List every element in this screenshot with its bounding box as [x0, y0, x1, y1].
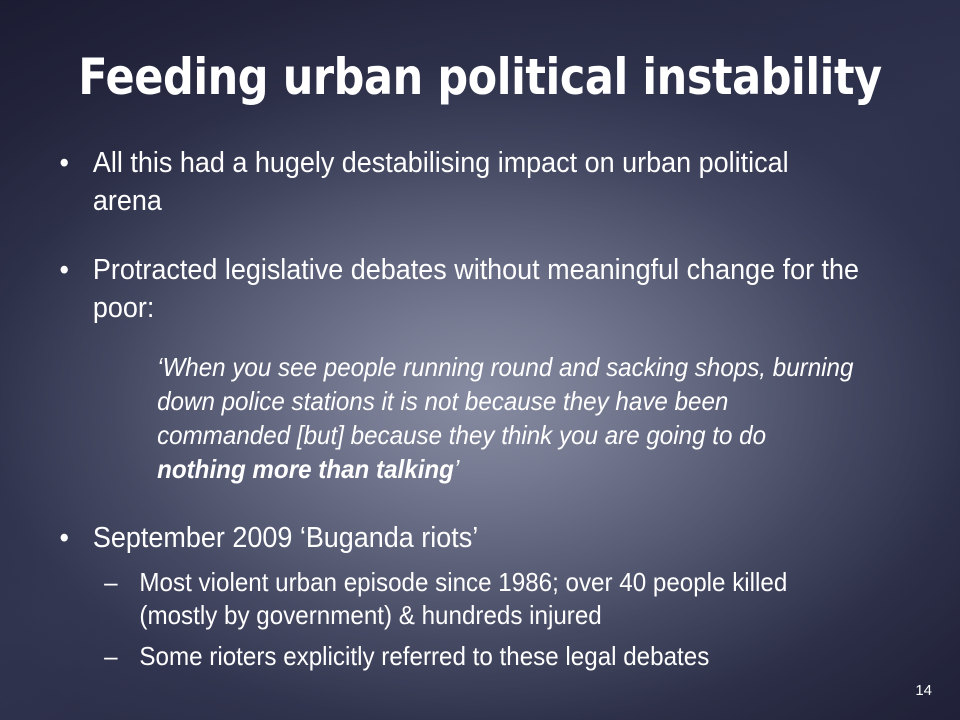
- spacer: [52, 486, 924, 520]
- bullet-item-2: • Protracted legislative debates without…: [52, 252, 863, 327]
- bullet-marker-icon: •: [59, 252, 68, 290]
- page-number: 14: [915, 683, 932, 698]
- quote-text-part-2: ’: [454, 454, 459, 484]
- slide-body: • All this had a hugely destabilising im…: [52, 145, 924, 673]
- sub-bullet-item-1: – Most violent urban episode since 1986;…: [52, 566, 863, 632]
- bullet-item-1-text: All this had a hugely destabilising impa…: [93, 145, 863, 220]
- bullet-marker-icon: •: [59, 145, 68, 183]
- quotation-block: ‘When you see people running round and s…: [52, 350, 863, 486]
- sub-bullet-item-2-text: Some rioters explicitly referred to thes…: [139, 640, 863, 673]
- spacer: [52, 558, 924, 566]
- dash-marker-icon: –: [104, 640, 117, 673]
- spacer: [52, 220, 924, 252]
- sub-bullet-item-2: – Some rioters explicitly referred to th…: [52, 640, 863, 673]
- spacer: [52, 632, 924, 640]
- bullet-item-3: • September 2009 ‘Buganda riots’: [52, 520, 863, 558]
- spacer: [52, 328, 924, 350]
- bullet-marker-icon: •: [59, 520, 68, 558]
- dash-marker-icon: –: [104, 566, 117, 599]
- bullet-item-1: • All this had a hugely destabilising im…: [52, 145, 863, 220]
- slide-title: Feeding urban political instability: [67, 50, 893, 104]
- bullet-item-3-text: September 2009 ‘Buganda riots’: [93, 520, 863, 558]
- quote-emphasis-text: nothing more than talking: [157, 454, 454, 484]
- quote-text-part-1: ‘When you see people running round and s…: [157, 352, 853, 450]
- presentation-slide: Feeding urban political instability • Al…: [0, 0, 960, 720]
- bullet-item-2-text: Protracted legislative debates without m…: [93, 252, 863, 327]
- sub-bullet-item-1-text: Most violent urban episode since 1986; o…: [139, 566, 863, 632]
